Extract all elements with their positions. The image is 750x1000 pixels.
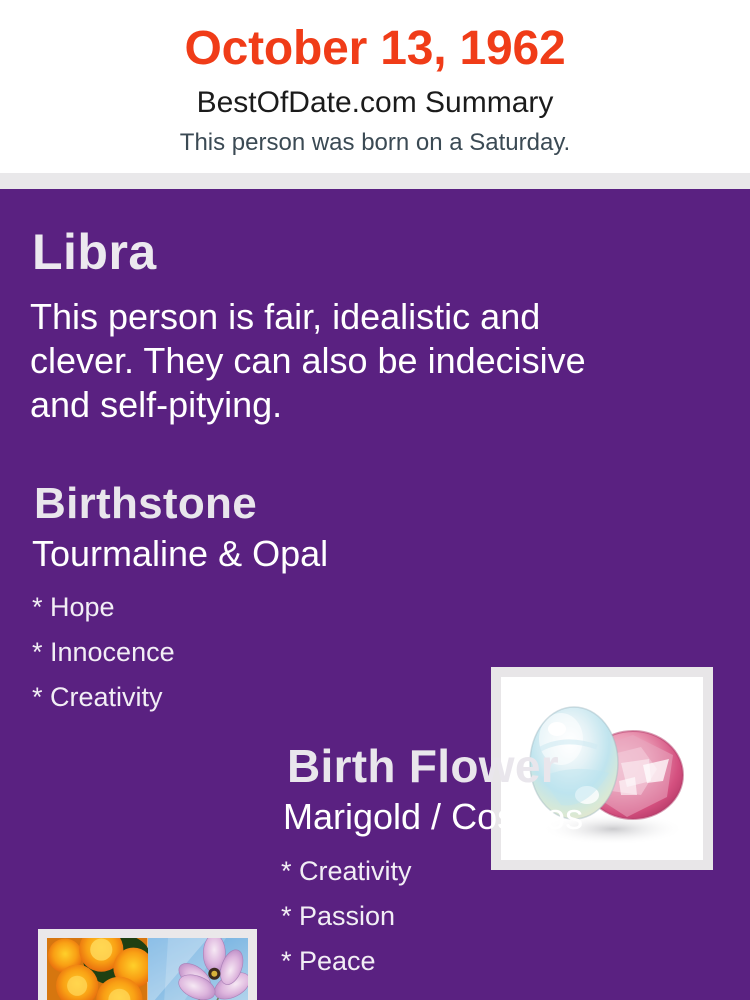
list-item: * Innocence (32, 630, 452, 675)
date-summary-infographic: October 13, 1962 BestOfDate.com Summary … (0, 0, 750, 1000)
cosmos-photo (148, 938, 249, 1000)
birth-day-note: This person was born on a Saturday. (0, 128, 750, 158)
header-divider (0, 173, 750, 189)
birth-flower-trait-list: * Creativity * Passion * Peace (281, 849, 701, 984)
marigold-illustration (47, 938, 148, 1000)
birthstone-heading: Birthstone (34, 478, 257, 530)
zodiac-sign-heading: Libra (32, 223, 157, 281)
birthstone-name: Tourmaline & Opal (32, 533, 328, 575)
birth-flower-image-frame (38, 929, 257, 1000)
list-item: * Creativity (281, 849, 701, 894)
birth-flower-name: Marigold / Cosmos (283, 796, 583, 838)
list-item: * Peace (281, 939, 701, 984)
list-item: * Creativity (32, 675, 452, 720)
page-title: October 13, 1962 (0, 21, 750, 77)
site-summary-label: BestOfDate.com Summary (0, 85, 750, 121)
cosmos-illustration (148, 938, 249, 1000)
birthstone-trait-list: * Hope * Innocence * Creativity (32, 585, 452, 720)
birth-flower-image (47, 938, 248, 1000)
marigold-photo (47, 938, 148, 1000)
header: October 13, 1962 BestOfDate.com Summary … (0, 0, 750, 173)
list-item: * Passion (281, 894, 701, 939)
summary-panel: Libra This person is fair, idealistic an… (0, 189, 750, 1000)
zodiac-description: This person is fair, idealistic and clev… (30, 295, 630, 427)
birth-flower-heading: Birth Flower (287, 739, 559, 793)
list-item: * Hope (32, 585, 452, 630)
